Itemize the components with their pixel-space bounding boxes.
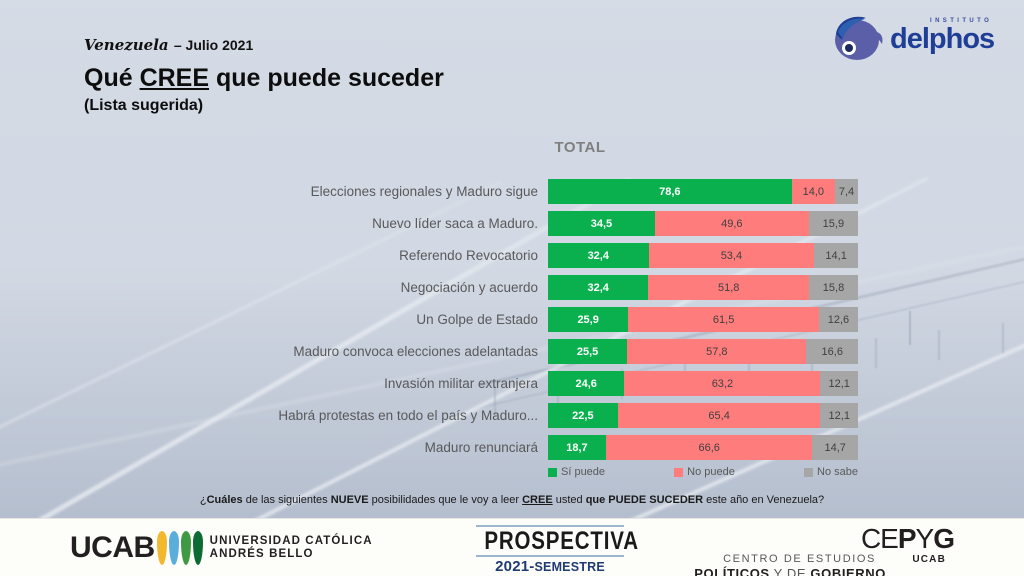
chart-category-label: Un Golpe de Estado — [150, 304, 538, 335]
chart-category-label: Elecciones regionales y Maduro sigue — [150, 176, 538, 207]
chart-segment-no-sabe: 14,7 — [812, 435, 858, 460]
ucab-full-name: UNIVERSIDAD CATÓLICA ANDRÉS BELLO — [210, 535, 373, 561]
prospectiva-rule-bottom — [476, 555, 624, 557]
cepyg-p: P — [898, 523, 916, 554]
q-part-5: este año en Venezuela? — [703, 494, 824, 506]
country-label: Venezuela — [84, 36, 169, 54]
chart-segment-no-puede: 63,2 — [624, 371, 820, 396]
ucab-leaf-icon — [157, 531, 167, 565]
ucab-logo: UCAB UNIVERSIDAD CATÓLICA ANDRÉS BELLO — [70, 529, 373, 567]
chart-category-label: Maduro renunciará — [150, 432, 538, 463]
title-emphasis: CREE — [140, 64, 209, 92]
q-bold-3: que PUEDE SUCEDER — [586, 494, 703, 506]
dolphin-icon — [830, 12, 886, 62]
cepyg-y: Y — [916, 523, 934, 554]
cepyg-line-1: CENTRO DE ESTUDIOS — [723, 553, 876, 565]
page-title: Qué CREE que puede suceder — [84, 64, 444, 93]
ucab-wordmark: UCAB — [70, 531, 155, 565]
cepyg-wordmark: CEPYG — [861, 525, 954, 553]
chart-segment-si-puede: 78,6 — [548, 179, 792, 204]
chart-segment-si-puede: 32,4 — [548, 243, 649, 268]
ucab-leaf-icon — [181, 531, 191, 565]
legend-item-no: No puede — [674, 466, 735, 478]
chart-row: Referendo Revocatorio32,453,414,1 — [0, 240, 1024, 271]
chart-segment-no-puede: 49,6 — [655, 211, 809, 236]
chart-row: Negociación y acuerdo32,451,815,8 — [0, 272, 1024, 303]
chart-bar-stack: 25,961,512,6 — [548, 307, 858, 332]
title-part-1: Qué — [84, 64, 140, 92]
delphos-wordmark: delphos — [890, 23, 994, 56]
chart-bar-stack: 32,451,815,8 — [548, 275, 858, 300]
cepyg-line-2: POLÍTICOS Y DE GOBIERNO — [694, 566, 886, 576]
cepyg-ucab-label: UCAB — [912, 554, 946, 565]
chart-row: Maduro convoca elecciones adelantadas25,… — [0, 336, 1024, 367]
chart-segment-no-sabe: 16,6 — [806, 339, 858, 364]
chart-segment-no-puede: 14,0 — [792, 179, 835, 204]
chart-category-label: Maduro convoca elecciones adelantadas — [150, 336, 538, 367]
chart-segment-no-sabe: 12,1 — [820, 403, 858, 428]
legend-item-si: Sí puede — [548, 466, 605, 478]
prospectiva-wordmark: PROSPECTIVA — [484, 528, 615, 554]
chart-row: Invasión militar extranjera24,663,212,1 — [0, 368, 1024, 399]
cepyg-gobierno: GOBIERNO — [810, 566, 886, 576]
page-subtitle: (Lista sugerida) — [84, 97, 203, 115]
chart-bar-stack: 32,453,414,1 — [548, 243, 858, 268]
chart-bar-stack: 18,766,614,7 — [548, 435, 858, 460]
chart-segment-no-puede: 61,5 — [628, 307, 819, 332]
q-part-4: usted — [553, 494, 586, 506]
legend-swatch-icon — [674, 468, 683, 477]
chart-row: Un Golpe de Estado25,961,512,6 — [0, 304, 1024, 335]
chart-bar-stack: 22,565,412,1 — [548, 403, 858, 428]
chart-row: Nuevo líder saca a Maduro.34,549,615,9 — [0, 208, 1024, 239]
q-part-3: posibilidades que le voy a leer — [369, 494, 522, 506]
chart-segment-no-puede: 66,6 — [606, 435, 812, 460]
chart-segment-no-puede: 65,4 — [618, 403, 821, 428]
chart-category-label: Referendo Revocatorio — [150, 240, 538, 271]
prospectiva-logo: PROSPECTIVA 2021-SEMESTRE — [470, 525, 630, 575]
chart-segment-no-puede: 53,4 — [649, 243, 815, 268]
ucab-name-line-2: ANDRÉS BELLO — [210, 548, 373, 561]
chart-segment-si-puede: 25,5 — [548, 339, 627, 364]
chart-segment-no-sabe: 7,4 — [835, 179, 858, 204]
chart-segment-no-puede: 51,8 — [648, 275, 809, 300]
survey-question: ¿Cuáles de las siguientes NUEVE posibili… — [0, 494, 1024, 506]
ucab-leaves-icon — [157, 531, 203, 565]
chart-bar-stack: 24,663,212,1 — [548, 371, 858, 396]
q-bold-2: NUEVE — [331, 494, 369, 506]
country-period: Venezuela – Julio 2021 — [84, 36, 253, 54]
legend-label: No sabe — [817, 466, 858, 478]
chart-category-label: Negociación y acuerdo — [150, 272, 538, 303]
q-part-1: ¿ — [200, 494, 207, 506]
chart-segment-si-puede: 24,6 — [548, 371, 624, 396]
title-part-2: que puede suceder — [209, 64, 444, 92]
chart-segment-no-sabe: 15,8 — [809, 275, 858, 300]
chart-category-label: Nuevo líder saca a Maduro. — [150, 208, 538, 239]
prospectiva-edition: 2021-SEMESTRE — [470, 559, 630, 575]
chart-segment-si-puede: 34,5 — [548, 211, 655, 236]
prospectiva-year: 2021- — [495, 558, 534, 575]
cepyg-g: G — [933, 523, 954, 554]
ucab-leaf-icon — [169, 531, 179, 565]
q-underline-1: CREE — [522, 494, 553, 506]
chart-segment-si-puede: 25,9 — [548, 307, 628, 332]
legend-item-ns: No sabe — [804, 466, 858, 478]
chart-bar-stack: 34,549,615,9 — [548, 211, 858, 236]
chart-segment-no-puede: 57,8 — [627, 339, 806, 364]
cepyg-politicos: POLÍTICOS — [694, 566, 769, 576]
legend-label: Sí puede — [561, 466, 605, 478]
chart-category-label: Invasión militar extranjera — [150, 368, 538, 399]
legend-swatch-icon — [548, 468, 557, 477]
chart-bar-stack: 78,614,07,4 — [548, 179, 858, 204]
period-label: – Julio 2021 — [174, 37, 253, 53]
chart-segment-no-sabe: 15,9 — [809, 211, 858, 236]
chart-category-label: Habrá protestas en todo el país y Maduro… — [150, 400, 538, 431]
stacked-bar-chart: Elecciones regionales y Maduro sigue78,6… — [0, 176, 1024, 464]
chart-bar-stack: 25,557,816,6 — [548, 339, 858, 364]
cepyg-logo: CEPYG UCAB CENTRO DE ESTUDIOS POLÍTICOS … — [718, 525, 968, 573]
delphos-logo: INSTITUTO delphos — [822, 8, 1012, 66]
cepyg-conj: Y DE — [770, 566, 811, 576]
chart-segment-no-sabe: 12,1 — [820, 371, 858, 396]
footer-logo-bar: UCAB UNIVERSIDAD CATÓLICA ANDRÉS BELLO P… — [0, 518, 1024, 576]
chart-segment-si-puede: 18,7 — [548, 435, 606, 460]
chart-row: Maduro renunciará18,766,614,7 — [0, 432, 1024, 463]
legend-label: No puede — [687, 466, 735, 478]
chart-group-header: TOTAL — [520, 139, 640, 156]
ucab-name-line-1: UNIVERSIDAD CATÓLICA — [210, 535, 373, 548]
chart-segment-si-puede: 22,5 — [548, 403, 618, 428]
chart-segment-no-sabe: 12,6 — [819, 307, 858, 332]
ucab-leaf-icon — [193, 531, 203, 565]
chart-segment-si-puede: 32,4 — [548, 275, 648, 300]
chart-row: Elecciones regionales y Maduro sigue78,6… — [0, 176, 1024, 207]
legend-swatch-icon — [804, 468, 813, 477]
cepyg-ce: CE — [861, 523, 898, 554]
q-bold-1: Cuáles — [207, 494, 243, 506]
chart-legend: Sí puedeNo puedeNo sabe — [548, 466, 858, 478]
q-part-2: de las siguientes — [243, 494, 331, 506]
prospectiva-semester: SEMESTRE — [535, 560, 605, 574]
chart-segment-no-sabe: 14,1 — [814, 243, 858, 268]
chart-row: Habrá protestas en todo el país y Maduro… — [0, 400, 1024, 431]
